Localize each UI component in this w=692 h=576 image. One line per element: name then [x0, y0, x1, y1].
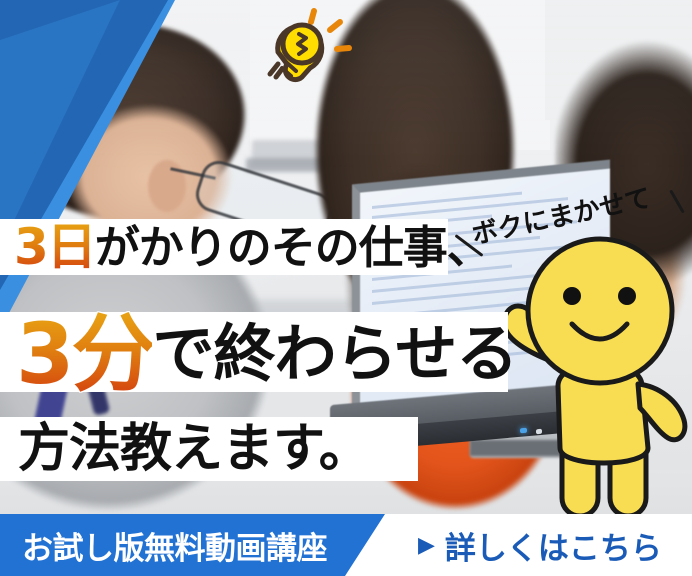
headline-band-2: 3分 で終わらせる — [0, 312, 508, 392]
headline-2-number: 3分 — [16, 312, 152, 396]
mascot-eye-left — [563, 287, 581, 305]
details-link-label: 詳しくはこちら — [445, 523, 662, 568]
bottom-cta-bar: お試し版無料動画講座 ▶ 詳しくはこちら — [0, 514, 692, 576]
play-arrow-icon: ▶ — [418, 535, 435, 557]
lightbulb-icon — [258, 8, 358, 86]
mascot-eye-right — [618, 287, 636, 305]
promo-banner: ボクにまかせて 3日 がかりのその仕事、 — [0, 0, 692, 576]
headline-3-text: 方法教えます。 — [18, 423, 370, 475]
details-link[interactable]: ▶ 詳しくはこちら — [418, 514, 662, 576]
free-trial-label: お試し版無料動画講座 — [22, 514, 327, 576]
headline-band-3: 方法教えます。 — [0, 417, 418, 481]
headline-1-number: 3日 — [14, 222, 95, 272]
headline-2-text: で終わらせる — [152, 323, 517, 385]
yellow-mascot-icon — [492, 236, 692, 526]
headline-band-1: 3日 がかりのその仕事、 — [0, 219, 448, 275]
headline-1-text: がかりのその仕事、 — [95, 225, 491, 270]
